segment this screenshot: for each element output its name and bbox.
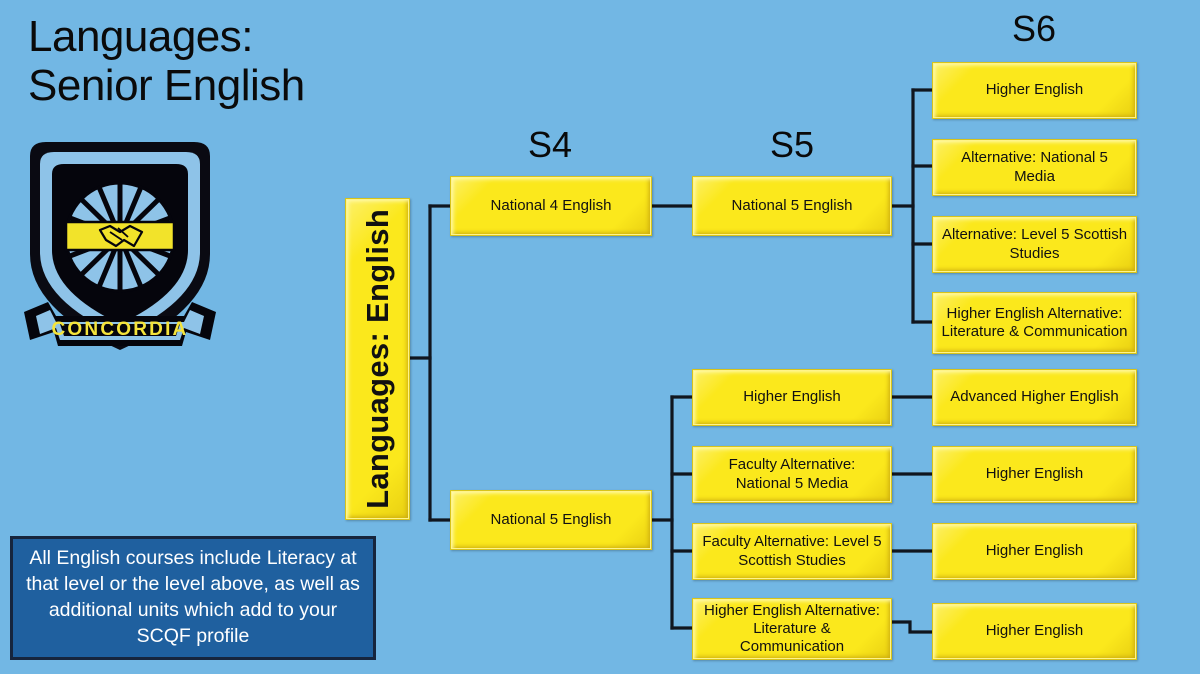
node-s5b-higher-english[interactable]: Higher English	[692, 369, 892, 426]
node-label: Advanced Higher English	[950, 388, 1118, 406]
node-label: Faculty Alternative: Level 5 Scottish St…	[700, 533, 884, 570]
slide-canvas: Languages: Senior English	[0, 0, 1200, 674]
page-title: Languages: Senior English	[28, 12, 305, 111]
node-root-languages-english[interactable]: Languages: English	[345, 198, 410, 520]
node-s6-alternative-level-5-scottish-studies[interactable]: Alternative: Level 5 Scottish Studies	[932, 216, 1137, 273]
node-s6b-higher-english-1[interactable]: Higher English	[932, 446, 1137, 503]
page-title-line2: Senior English	[28, 61, 305, 110]
node-s6-alternative-national-5-media[interactable]: Alternative: National 5 Media	[932, 139, 1137, 196]
node-label: Higher English Alternative: Literature &…	[700, 602, 884, 657]
handshake-icon	[66, 222, 174, 250]
stage-label-s5: S5	[712, 124, 872, 166]
node-s6-higher-english-alternative-literature-communication[interactable]: Higher English Alternative: Literature &…	[932, 292, 1137, 354]
note-box: All English courses include Literacy at …	[10, 536, 376, 660]
node-s4-national-5-english[interactable]: National 5 English	[450, 490, 652, 550]
node-s6b-advanced-higher-english[interactable]: Advanced Higher English	[932, 369, 1137, 426]
node-s6b-higher-english-3[interactable]: Higher English	[932, 603, 1137, 660]
stage-label-s4: S4	[470, 124, 630, 166]
node-label: Languages: English	[359, 209, 397, 509]
node-label: National 5 English	[491, 511, 612, 529]
node-label: Alternative: Level 5 Scottish Studies	[940, 226, 1129, 263]
node-s6-higher-english[interactable]: Higher English	[932, 62, 1137, 119]
node-label: Faculty Alternative: National 5 Media	[700, 456, 884, 493]
node-label: Higher English	[986, 542, 1084, 560]
node-label: Higher English	[986, 81, 1084, 99]
node-s4-national-4-english[interactable]: National 4 English	[450, 176, 652, 236]
school-crest: CONCORDIA	[14, 134, 226, 374]
node-label: Higher English	[986, 465, 1084, 483]
node-s5-national-5-english[interactable]: National 5 English	[692, 176, 892, 236]
node-s6b-higher-english-2[interactable]: Higher English	[932, 523, 1137, 580]
node-label: Higher English	[743, 388, 841, 406]
node-label: Higher English	[986, 622, 1084, 640]
node-label: National 4 English	[491, 197, 612, 215]
node-label: Alternative: National 5 Media	[940, 149, 1129, 186]
node-s5b-faculty-alternative-national-5-media[interactable]: Faculty Alternative: National 5 Media	[692, 446, 892, 503]
page-title-line1: Languages:	[28, 12, 253, 61]
node-s5b-faculty-alternative-level-5-scottish-studies[interactable]: Faculty Alternative: Level 5 Scottish St…	[692, 523, 892, 580]
stage-label-s6: S6	[954, 8, 1114, 50]
crest-motto: CONCORDIA	[52, 319, 189, 340]
node-label: National 5 English	[732, 197, 853, 215]
node-s5b-higher-english-alternative-literature-communication[interactable]: Higher English Alternative: Literature &…	[692, 598, 892, 660]
note-text: All English courses include Literacy at …	[23, 546, 363, 650]
node-label: Higher English Alternative: Literature &…	[940, 305, 1129, 342]
